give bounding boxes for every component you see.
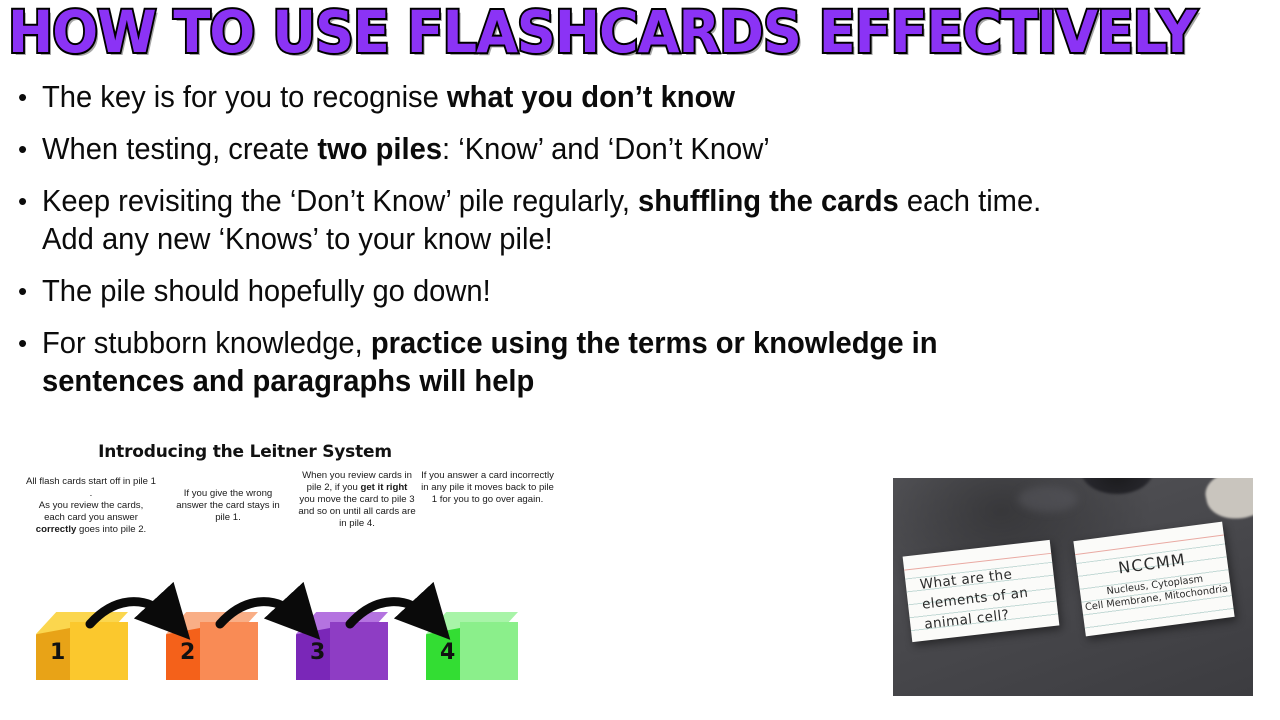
bullet-marker-icon: •	[18, 182, 42, 220]
bullet-text: The key is for you to recognise what you…	[42, 78, 1063, 116]
leitner-caption-pile-3: When you review cards inpile 2, if you g…	[297, 470, 417, 530]
pile-number-label: 1	[50, 640, 65, 665]
bullet-item: •When testing, create two piles: ‘Know’ …	[18, 130, 1128, 168]
cube-right-face	[70, 622, 128, 680]
cube-right-face	[460, 622, 518, 680]
leitner-caption-pile-2: If you give the wrong answer the card st…	[168, 488, 288, 524]
bullet-marker-icon: •	[18, 130, 42, 168]
bullet-item: •For stubborn knowledge, practice using …	[18, 324, 1128, 400]
bullet-item: •Keep revisiting the ‘Don’t Know’ pile r…	[18, 182, 1128, 258]
leitner-caption-pile-4: If you answer a card incorrectly in any …	[420, 470, 555, 506]
bullet-marker-icon: •	[18, 272, 42, 310]
leitner-pile-cubes: 1234	[20, 612, 565, 704]
pile-cube-4: 4	[426, 612, 522, 688]
pile-cube-3: 3	[296, 612, 392, 688]
pile-number-label: 4	[440, 640, 455, 665]
bullet-marker-icon: •	[18, 324, 42, 362]
bullet-text: When testing, create two piles: ‘Know’ a…	[42, 130, 1063, 168]
page-title: HOW TO USE FLASHCARDS EFFECTIVELY	[8, 2, 938, 62]
bullet-item: •The pile should hopefully go down!	[18, 272, 1128, 310]
leitner-diagram-title: Introducing the Leitner System	[20, 442, 470, 462]
bullet-text: Keep revisiting the ‘Don’t Know’ pile re…	[42, 182, 1063, 258]
bullet-list: •The key is for you to recognise what yo…	[18, 78, 1128, 414]
leitner-caption-columns: All flash cards start off in pile 1 .As …	[20, 476, 565, 626]
pile-cube-1: 1	[36, 612, 132, 688]
cube-right-face	[200, 622, 258, 680]
bullet-text: For stubborn knowledge, practice using t…	[42, 324, 1063, 400]
desk-highlight	[1018, 486, 1078, 512]
flashcards-photo: What are theelements of ananimal cell? N…	[893, 478, 1253, 696]
leitner-caption-pile-1: All flash cards start off in pile 1 .As …	[26, 476, 156, 536]
pile-cube-2: 2	[166, 612, 262, 688]
pile-number-label: 3	[310, 640, 325, 665]
bullet-text: The pile should hopefully go down!	[42, 272, 1063, 310]
slide-canvas: HOW TO USE FLASHCARDS EFFECTIVELY •The k…	[0, 0, 1280, 720]
bullet-marker-icon: •	[18, 78, 42, 116]
flashcard-question-text: What are theelements of ananimal cell?	[905, 560, 1059, 636]
cube-right-face	[330, 622, 388, 680]
flashcard-answer: NCCMM Nucleus, CytoplasmCell Membrane, M…	[1073, 522, 1234, 637]
pile-number-label: 2	[180, 640, 195, 665]
leitner-system-diagram: Introducing the Leitner System All flash…	[20, 432, 580, 702]
bullet-item: •The key is for you to recognise what yo…	[18, 78, 1128, 116]
slide-title-container: HOW TO USE FLASHCARDS EFFECTIVELY	[8, 2, 1008, 64]
flashcard-question: What are theelements of ananimal cell?	[903, 540, 1060, 642]
